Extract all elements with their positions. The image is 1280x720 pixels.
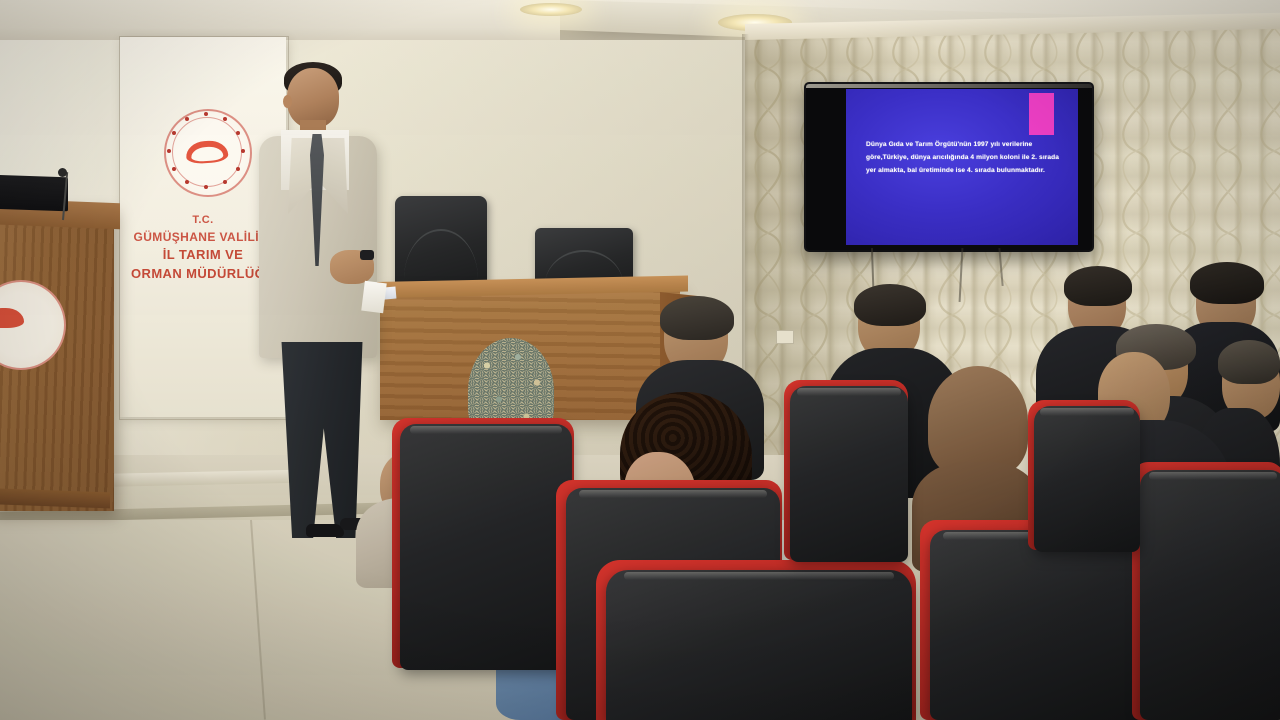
auditorium-seat xyxy=(606,570,912,720)
auditorium-seat xyxy=(790,386,908,562)
presenter-notes xyxy=(361,281,386,313)
auditorium-seat xyxy=(930,530,1148,720)
presenter-shoe xyxy=(306,524,344,537)
laptop-on-lectern xyxy=(0,175,68,212)
slide-text: Dünya Gıda ve Tarım Örgütü'nün 1997 yılı… xyxy=(866,139,1066,178)
auditorium-seat xyxy=(400,424,572,670)
presenter-ear xyxy=(283,95,292,108)
auditorium-seat xyxy=(1034,406,1140,552)
presenter-head xyxy=(287,68,339,128)
executive-chair xyxy=(395,196,487,292)
recessed-downlight xyxy=(520,3,582,16)
wall-mounted-tv: Dünya Gıda ve Tarım Örgütü'nün 1997 yılı… xyxy=(806,84,1092,250)
presenter-wristwatch xyxy=(360,250,374,260)
photo-scene: T.C. GÜMÜŞHANE VALİLİĞİ İL TARIM VE ORMA… xyxy=(0,0,1280,720)
presentation-slide: Dünya Gıda ve Tarım Örgütü'nün 1997 yılı… xyxy=(846,89,1078,245)
auditorium-seat xyxy=(1140,470,1280,720)
microphone-icon xyxy=(58,168,67,177)
tv-bezel xyxy=(806,84,1092,88)
wall-socket xyxy=(776,330,794,344)
slide-accent-block xyxy=(1029,93,1054,135)
